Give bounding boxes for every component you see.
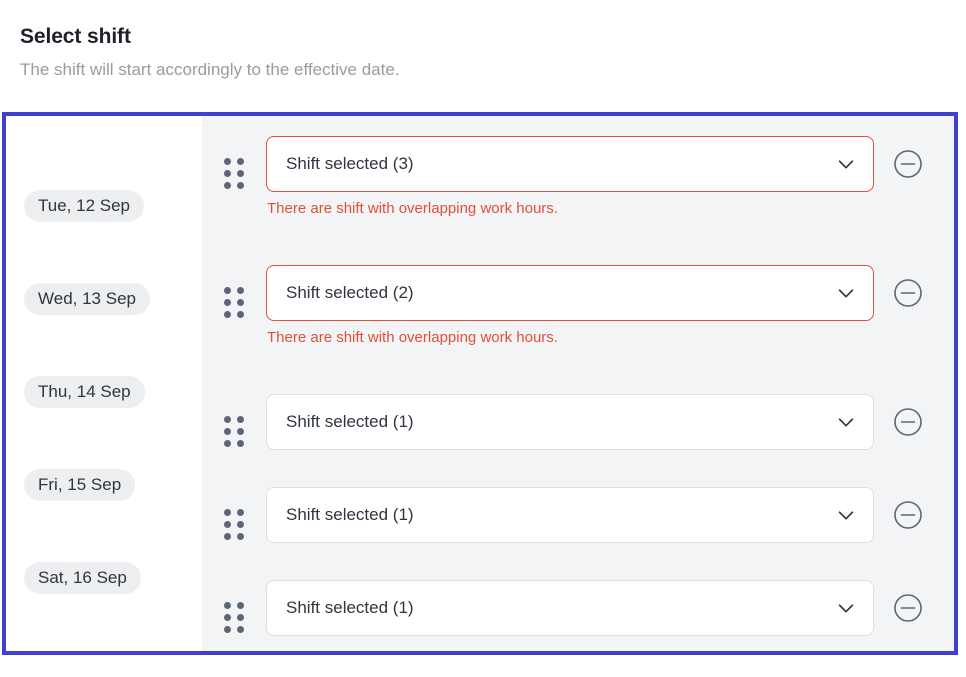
shift-select[interactable]: Shift selected (1) bbox=[266, 487, 874, 543]
drag-handle-dot bbox=[224, 626, 231, 633]
shift-select[interactable]: Shift selected (3) bbox=[266, 136, 874, 192]
shift-row: Shift selected (1) bbox=[202, 487, 954, 543]
page-title: Select shift bbox=[20, 24, 966, 50]
drag-handle-dot bbox=[224, 428, 231, 435]
drag-handle-dot bbox=[224, 158, 231, 165]
drag-handle-icon[interactable] bbox=[224, 287, 246, 318]
drag-handle-dot bbox=[224, 287, 231, 294]
shift-error-message: There are shift with overlapping work ho… bbox=[266, 328, 874, 347]
drag-handle-dot bbox=[224, 299, 231, 306]
shift-rows-panel: Shift selected (3)There are shift with o… bbox=[202, 116, 954, 651]
shift-select-value: Shift selected (1) bbox=[286, 505, 414, 525]
date-chip: Thu, 14 Sep bbox=[24, 376, 145, 408]
drag-handle-dot bbox=[224, 533, 231, 540]
minus-circle-icon bbox=[893, 500, 923, 530]
drag-handle-dot bbox=[237, 182, 244, 189]
shift-row: Shift selected (3)There are shift with o… bbox=[202, 136, 954, 218]
date-chip: Tue, 12 Sep bbox=[24, 190, 144, 222]
drag-handle-dot bbox=[224, 521, 231, 528]
remove-shift-button[interactable] bbox=[893, 500, 923, 530]
shift-select[interactable]: Shift selected (1) bbox=[266, 394, 874, 450]
drag-handle-dot bbox=[224, 170, 231, 177]
page-subtitle: The shift will start accordingly to the … bbox=[20, 59, 966, 81]
minus-circle-icon bbox=[893, 278, 923, 308]
drag-handle-dot bbox=[237, 614, 244, 621]
drag-handle-dot bbox=[237, 416, 244, 423]
drag-handle-dot bbox=[237, 287, 244, 294]
shift-select-value: Shift selected (2) bbox=[286, 283, 414, 303]
date-column: Tue, 12 SepWed, 13 SepThu, 14 SepFri, 15… bbox=[6, 116, 202, 651]
drag-handle-dot bbox=[224, 509, 231, 516]
drag-handle-dot bbox=[237, 626, 244, 633]
shift-selection-page: Select shift The shift will start accord… bbox=[0, 0, 966, 677]
chevron-down-icon[interactable] bbox=[835, 504, 857, 526]
shift-select[interactable]: Shift selected (2) bbox=[266, 265, 874, 321]
drag-handle-icon[interactable] bbox=[224, 416, 246, 447]
drag-handle-dot bbox=[237, 521, 244, 528]
drag-handle-dot bbox=[237, 440, 244, 447]
drag-handle-icon[interactable] bbox=[224, 602, 246, 633]
shift-error-message: There are shift with overlapping work ho… bbox=[266, 199, 874, 218]
shift-row: Shift selected (1) bbox=[202, 394, 954, 450]
shift-row: Shift selected (2)There are shift with o… bbox=[202, 265, 954, 347]
drag-handle-dot bbox=[237, 428, 244, 435]
shift-select-value: Shift selected (3) bbox=[286, 154, 414, 174]
minus-circle-icon bbox=[893, 593, 923, 623]
drag-handle-dot bbox=[237, 533, 244, 540]
drag-handle-dot bbox=[237, 311, 244, 318]
drag-handle-dot bbox=[224, 311, 231, 318]
shift-select-value: Shift selected (1) bbox=[286, 598, 414, 618]
remove-shift-button[interactable] bbox=[893, 278, 923, 308]
shift-select-wrapper: Shift selected (1) bbox=[266, 580, 874, 636]
drag-handle-dot bbox=[224, 416, 231, 423]
drag-handle-icon[interactable] bbox=[224, 509, 246, 540]
shift-select-wrapper: Shift selected (1) bbox=[266, 394, 874, 450]
drag-handle-dot bbox=[224, 614, 231, 621]
date-chip: Sat, 16 Sep bbox=[24, 562, 141, 594]
shift-select[interactable]: Shift selected (1) bbox=[266, 580, 874, 636]
chevron-down-icon[interactable] bbox=[835, 282, 857, 304]
drag-handle-dot bbox=[224, 440, 231, 447]
shift-select-value: Shift selected (1) bbox=[286, 412, 414, 432]
drag-handle-dot bbox=[237, 299, 244, 306]
drag-handle-icon[interactable] bbox=[224, 158, 246, 189]
drag-handle-dot bbox=[224, 182, 231, 189]
date-chip: Wed, 13 Sep bbox=[24, 283, 150, 315]
shift-row: Shift selected (1) bbox=[202, 580, 954, 636]
shift-select-wrapper: Shift selected (2)There are shift with o… bbox=[266, 265, 874, 347]
date-chip: Fri, 15 Sep bbox=[24, 469, 135, 501]
remove-shift-button[interactable] bbox=[893, 149, 923, 179]
chevron-down-icon[interactable] bbox=[835, 153, 857, 175]
chevron-down-icon[interactable] bbox=[835, 597, 857, 619]
remove-shift-button[interactable] bbox=[893, 593, 923, 623]
remove-shift-button[interactable] bbox=[893, 407, 923, 437]
page-header: Select shift The shift will start accord… bbox=[0, 0, 966, 81]
minus-circle-icon bbox=[893, 149, 923, 179]
drag-handle-dot bbox=[237, 509, 244, 516]
minus-circle-icon bbox=[893, 407, 923, 437]
drag-handle-dot bbox=[237, 602, 244, 609]
drag-handle-dot bbox=[237, 170, 244, 177]
drag-handle-dot bbox=[224, 602, 231, 609]
shift-select-wrapper: Shift selected (3)There are shift with o… bbox=[266, 136, 874, 218]
shift-select-wrapper: Shift selected (1) bbox=[266, 487, 874, 543]
chevron-down-icon[interactable] bbox=[835, 411, 857, 433]
shift-selection-container: Tue, 12 SepWed, 13 SepThu, 14 SepFri, 15… bbox=[2, 112, 958, 655]
drag-handle-dot bbox=[237, 158, 244, 165]
